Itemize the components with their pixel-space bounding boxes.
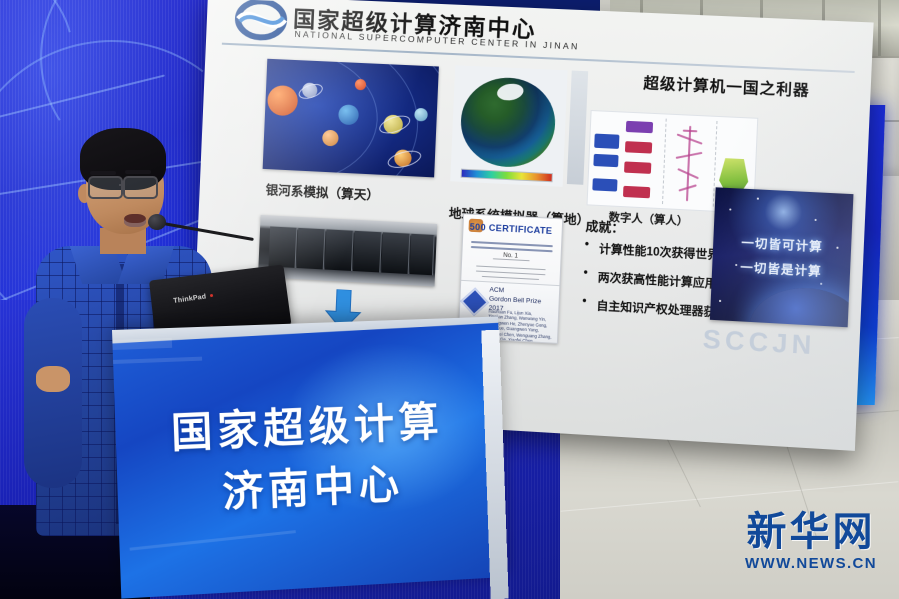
certificate-title: 500 CERTIFICATE (469, 222, 552, 236)
podium-text-line2: 济南中心 (221, 451, 404, 520)
microphone-icon (148, 214, 166, 230)
eyeglasses-icon (88, 176, 123, 199)
certificate-rank: No. 1 (503, 253, 518, 260)
slide-side-strip (567, 71, 588, 185)
sccjn-watermark: SCCJN (702, 323, 816, 361)
achievements-heading: 成就： (585, 215, 624, 236)
speaker-hand (36, 366, 70, 392)
universe-text-line1: 一切皆可计算 (713, 232, 852, 256)
photo-scene: 国家超级计算济南中心 NATIONAL SUPERCOMPUTER CENTER… (0, 0, 899, 599)
acm-badge-icon (460, 288, 489, 317)
watermark-en: WWW.NEWS.CN (736, 555, 886, 572)
podium-text-line1: 国家超级计算 (170, 389, 444, 461)
galaxy-simulation-image (263, 59, 439, 178)
center-logo-icon (234, 0, 288, 42)
slide-section-title: 超级计算机一国之利器 (643, 72, 810, 101)
news-watermark: 新华网 WWW.NEWS.CN (736, 512, 886, 584)
universe-text-line2: 一切皆是计算 (712, 257, 851, 282)
universe-panel: 一切皆可计算 一切皆是计算 (710, 187, 854, 327)
caption-galaxy: 银河系模拟（算天） (265, 179, 379, 204)
earth-colorbar (461, 169, 553, 183)
thinkpad-logo-icon: ThinkPad (173, 293, 207, 304)
earth-system-simulator-image (450, 65, 567, 187)
vascular-diagram (662, 119, 718, 207)
watermark-cn: 新华网 (736, 512, 886, 552)
eyeglasses-right-icon (123, 176, 158, 199)
speaker-arm (24, 298, 82, 488)
podium: 国家超级计算 济南中心 (112, 316, 507, 598)
speaker-mouth (124, 214, 146, 227)
